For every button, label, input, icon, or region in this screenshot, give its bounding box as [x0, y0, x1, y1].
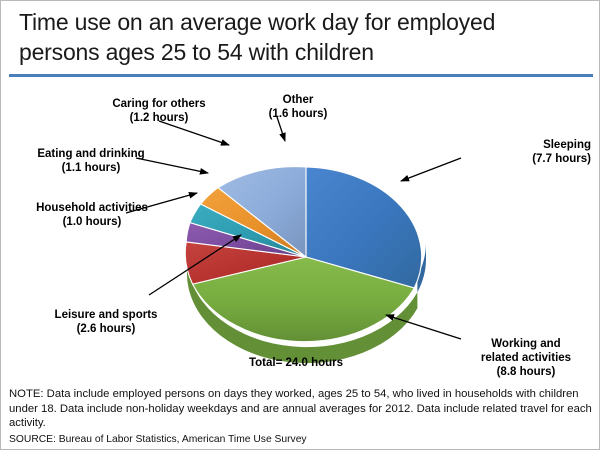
label-sleeping-value: (7.7 hours) — [461, 152, 591, 166]
label-working-value: (8.8 hours) — [456, 365, 596, 379]
label-leisure-value: (2.6 hours) — [21, 322, 191, 336]
arrow-sleeping — [401, 158, 461, 181]
label-caring-value: (1.2 hours) — [79, 111, 239, 125]
label-household-name: Household activities — [7, 201, 177, 215]
label-leisure-and-sports: Leisure and sports (2.6 hours) — [21, 308, 191, 336]
label-eating-and-drinking: Eating and drinking (1.1 hours) — [11, 147, 171, 175]
label-working-name: Working and — [456, 337, 596, 351]
label-caring-name: Caring for others — [79, 97, 239, 111]
pie-chart — [1, 81, 599, 381]
page-title: Time use on an average work day for empl… — [19, 7, 579, 67]
source-text: SOURCE: Bureau of Labor Statistics, Amer… — [9, 433, 593, 447]
label-working-and-related-activities: Working and related activities (8.8 hour… — [456, 337, 596, 379]
label-caring-for-others: Caring for others (1.2 hours) — [79, 97, 239, 125]
label-eating-value: (1.1 hours) — [11, 161, 171, 175]
chart-page: Time use on an average work day for empl… — [0, 0, 600, 450]
label-sleeping: Sleeping (7.7 hours) — [461, 138, 591, 166]
total-label: Total= 24.0 hours — [206, 356, 386, 370]
label-other-value: (1.6 hours) — [239, 107, 357, 121]
title-divider — [9, 74, 593, 77]
label-eating-name: Eating and drinking — [11, 147, 171, 161]
label-leisure-name: Leisure and sports — [21, 308, 191, 322]
label-sleeping-name: Sleeping — [461, 138, 591, 152]
label-working-name2: related activities — [456, 351, 596, 365]
label-household-activities: Household activities (1.0 hours) — [7, 201, 177, 229]
label-household-value: (1.0 hours) — [7, 215, 177, 229]
note-text: NOTE: Data include employed persons on d… — [9, 387, 593, 431]
label-other-name: Other — [239, 93, 357, 107]
label-other: Other (1.6 hours) — [239, 93, 357, 121]
footnote: NOTE: Data include employed persons on d… — [9, 387, 593, 447]
